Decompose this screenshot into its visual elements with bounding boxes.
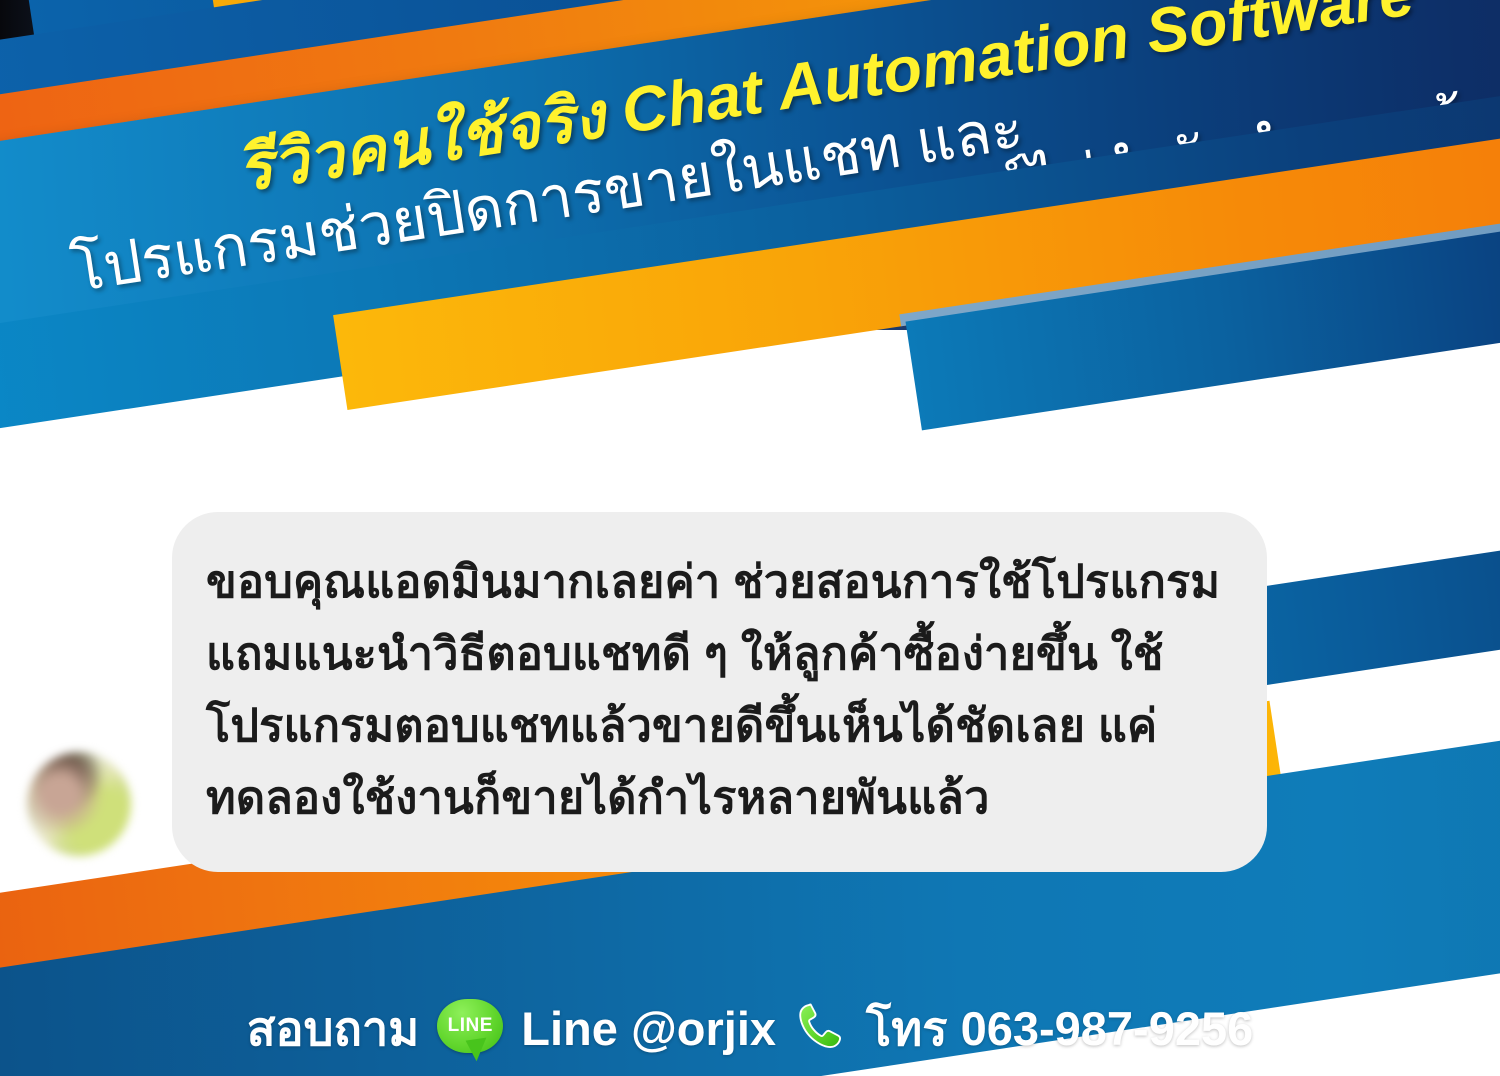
promo-poster: continue; $image = wp_get_attachment_ima…	[0, 0, 1500, 1076]
contact-bar: สอบถาม LINE Line @orjix โทร 063-987-9256	[0, 980, 1500, 1076]
avatar	[27, 752, 131, 856]
phone-icon[interactable]	[794, 999, 848, 1057]
testimonial-bubble: ขอบคุณแอดมินมากเลยค่า ช่วยสอนการใช้โปรแก…	[172, 512, 1267, 872]
ask-label: สอบถาม	[247, 991, 420, 1066]
line-id[interactable]: Line @orjix	[521, 1001, 776, 1056]
phone-label[interactable]: โทร 063-987-9256	[866, 991, 1253, 1066]
line-icon[interactable]: LINE	[437, 999, 503, 1057]
testimonial-text: ขอบคุณแอดมินมากเลยค่า ช่วยสอนการใช้โปรแก…	[206, 546, 1241, 834]
line-icon-label: LINE	[437, 999, 503, 1053]
